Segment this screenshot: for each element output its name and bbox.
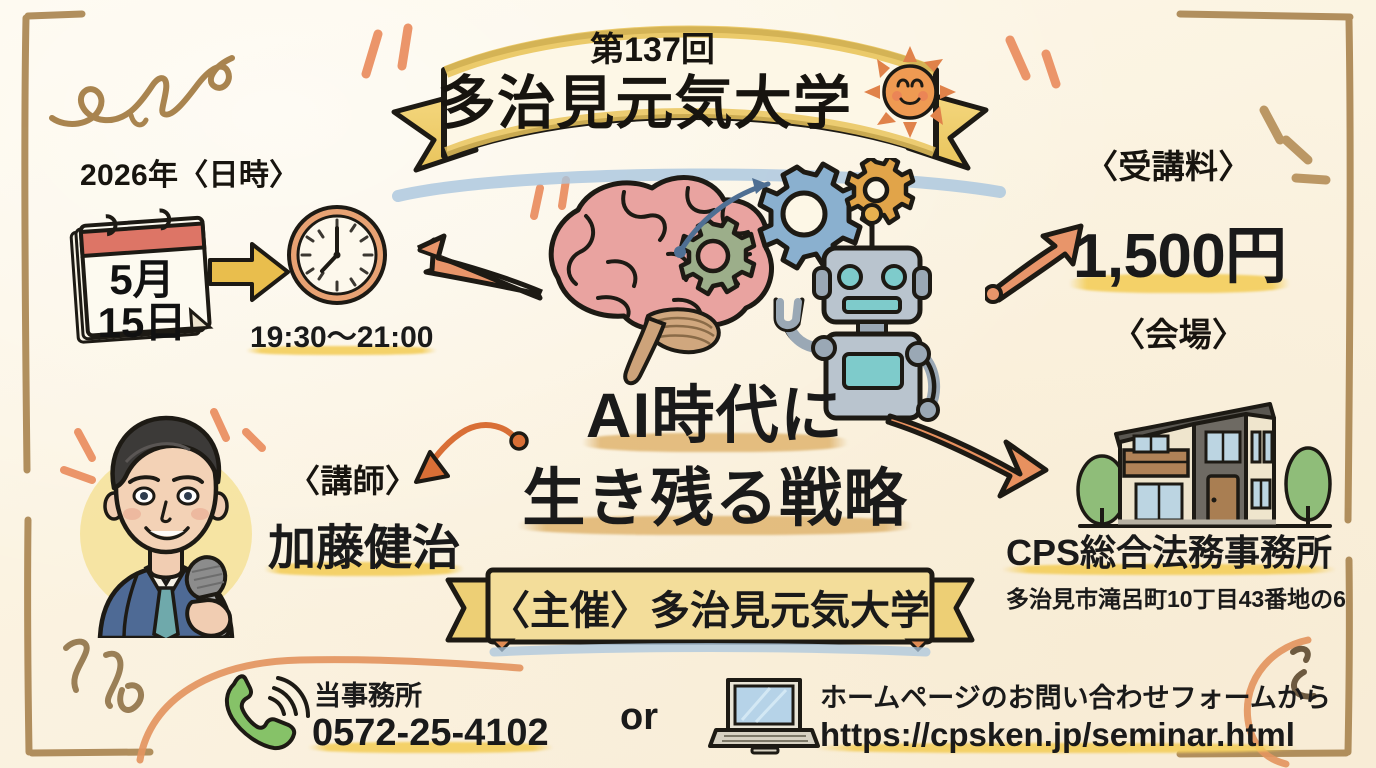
fee-amount: 1,500円 <box>1073 205 1286 295</box>
main-title-line1: AI時代に <box>586 378 844 455</box>
host-text: 〈主催〉多治見元気大学 <box>440 578 980 636</box>
speaker-name-wrap: 加藤健治 <box>268 508 460 578</box>
squiggle-decor-bottomleft <box>66 642 141 710</box>
schedule-year-label: 2026年〈日時〉 <box>80 150 299 194</box>
accent-dashes-bannerright <box>1010 40 1056 84</box>
speaker-portrait-icon <box>66 402 266 638</box>
web-label: ホームページのお問い合わせフォームから <box>820 676 1331 715</box>
schedule-year: 2026年〈日時〉 <box>80 159 299 192</box>
speaker-label: 〈講師〉 <box>288 456 417 502</box>
calendar-month: 5月 <box>109 256 174 303</box>
calendar-day: 15日 <box>98 299 187 346</box>
clock-icon <box>282 200 392 310</box>
venue-label: 〈会場〉 <box>1112 308 1245 356</box>
fee-amount-wrap: 1,500円 <box>1073 205 1286 295</box>
arrow-to-fee-icon <box>985 214 1105 304</box>
laptop-icon <box>708 672 820 758</box>
host-ribbon: 〈主催〉多治見元気大学 <box>440 556 980 660</box>
web-url: https://cpsken.jp/seminar.html <box>820 716 1295 754</box>
venue-address: 多治見市滝呂町10丁目43番地の6 <box>1006 580 1346 614</box>
main-title: AI時代に 生き残る戦略 <box>500 378 930 538</box>
seminar-poster: 第137回 多治見元気大学 2026年〈日時〉 5月 15日 <box>0 0 1376 768</box>
or-separator: or <box>620 696 658 739</box>
arrow-to-schedule-icon <box>398 228 548 323</box>
calendar-icon: 5月 15日 <box>60 200 220 355</box>
phone-ringing-icon <box>216 672 312 758</box>
speaker-name: 加藤健治 <box>268 508 460 578</box>
squiggle-decor-topleft <box>52 58 232 125</box>
main-title-line2: 生き残る戦略 <box>522 461 908 538</box>
brain-icon <box>551 178 771 384</box>
web-url-wrap: https://cpsken.jp/seminar.html <box>820 716 1295 754</box>
accent-dashes-topright <box>1264 110 1326 180</box>
phone-number-wrap: 0572-25-4102 <box>312 712 549 755</box>
house-icon <box>1062 398 1352 538</box>
fee-label: 〈受講料〉 <box>1085 140 1252 188</box>
venue-name-wrap: CPS総合法務事務所 <box>1006 524 1332 576</box>
phone-number: 0572-25-4102 <box>312 712 549 755</box>
organization-title: 多治見元気大学 <box>380 56 910 140</box>
venue-name: CPS総合法務事務所 <box>1006 524 1332 576</box>
phone-label: 当事務所 <box>314 674 422 713</box>
